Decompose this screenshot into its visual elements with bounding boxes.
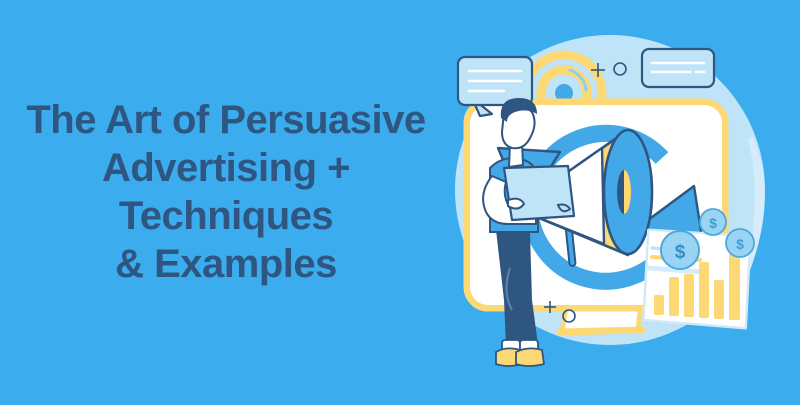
headline-line-2: Advertising + <box>0 144 452 192</box>
title-block: The Art of Persuasive Advertising + Tech… <box>0 96 452 288</box>
illustration: $ $ $ <box>452 0 800 405</box>
headline-line-3: Techniques <box>0 192 452 240</box>
coin-small-top: $ <box>700 209 726 235</box>
svg-text:$: $ <box>736 236 744 252</box>
banner-root: The Art of Persuasive Advertising + Tech… <box>0 0 800 405</box>
page-title: The Art of Persuasive Advertising + Tech… <box>0 96 452 288</box>
speech-bubble-right <box>642 49 714 87</box>
coin-small-right: $ <box>726 229 754 257</box>
coin-large: $ <box>661 231 699 269</box>
headline-line-1: The Art of Persuasive <box>0 96 452 144</box>
svg-text:$: $ <box>709 215 717 231</box>
svg-text:$: $ <box>675 242 686 263</box>
headline-line-4: & Examples <box>0 240 452 288</box>
